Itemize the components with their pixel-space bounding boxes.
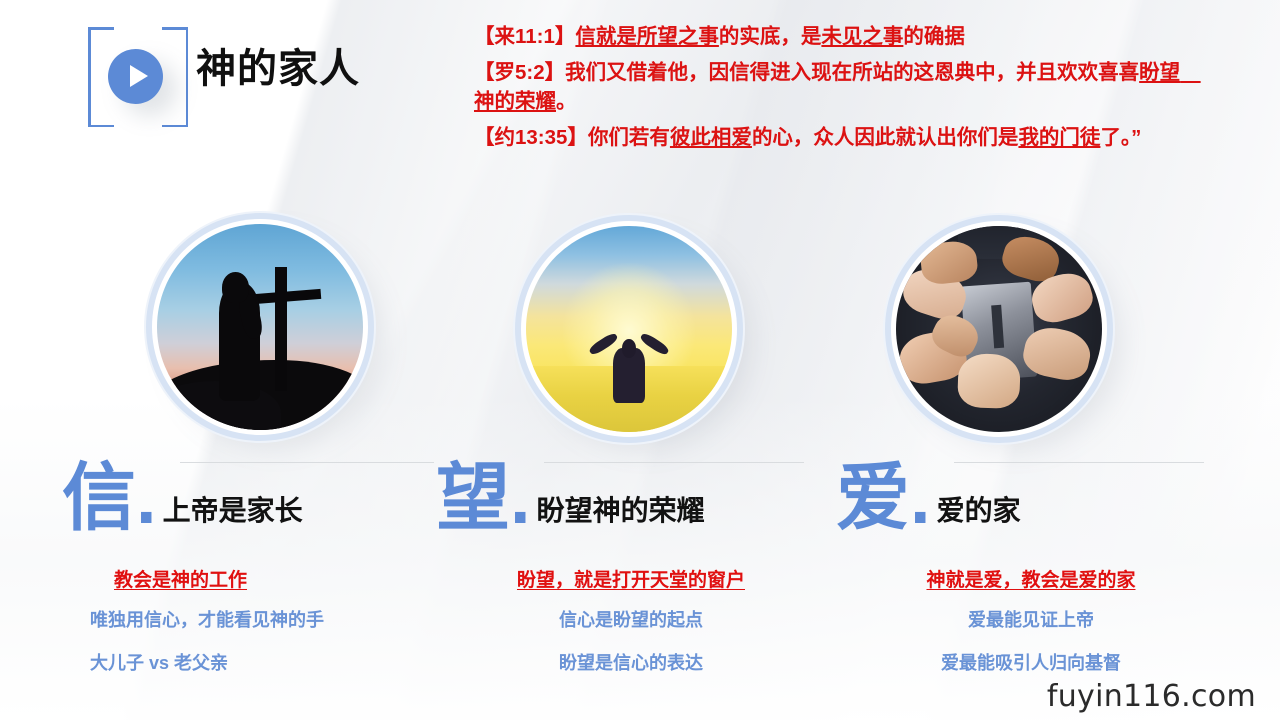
scripture-reference: 【罗5:2】 (474, 61, 565, 84)
column-subhead: 上帝是家长 (157, 497, 303, 532)
person-arms-raised-in-golden-field-photo (526, 226, 732, 432)
column-body-line: 大儿子 vs 老父亲 (90, 654, 452, 672)
page-title: 神的家人 (196, 49, 360, 89)
column-big-char: 信 (62, 464, 136, 532)
column-body-lines: 唯独用信心，才能看见神的手 大儿子 vs 老父亲 (62, 611, 452, 697)
column-dot: . (910, 464, 931, 532)
praying-silhouette-with-cross-photo (157, 224, 363, 430)
scripture-text: 的确据 (903, 25, 965, 48)
column-body-line: 爱最能见证上帝 (836, 611, 1226, 629)
play-button-in-frame-icon (88, 27, 188, 127)
column-divider (180, 462, 434, 463)
play-triangle-icon (130, 65, 148, 87)
scripture-text: 的实底，是 (719, 25, 822, 48)
scripture-verse: 【罗5:2】我们又借着他，因信得进入现在所站的这恩典中，并且欢欢喜喜盼望 神的荣… (474, 58, 1214, 116)
scripture-emphasis: 未见之事 (821, 25, 903, 48)
column-dot: . (510, 464, 531, 532)
scripture-text: 的心，众人因此就认出你们是 (752, 126, 1019, 149)
column-big-char: 望 (436, 464, 510, 532)
column-big-char: 爱 (836, 464, 910, 532)
site-watermark: fuyin116.com (1047, 679, 1256, 714)
column-body-line: 盼望是信心的表达 (436, 654, 826, 672)
scripture-emphasis: 我的门徒 (1018, 126, 1100, 149)
column-divider (954, 462, 1204, 463)
scripture-text: 我们又借着他，因信得进入现在所站的这恩典中，并且欢欢喜喜 (565, 61, 1139, 84)
column-red-line: 教会是神的工作 (62, 565, 452, 592)
hands-clasped-in-prayer-circle-photo (896, 226, 1102, 432)
scripture-emphasis: 信就是所望之事 (575, 25, 719, 48)
scripture-text: 。 (556, 90, 577, 113)
column-dot: . (136, 464, 157, 532)
column-heading: 信 . 上帝是家长 (62, 464, 303, 532)
scripture-emphasis: 彼此相爱 (670, 126, 752, 149)
slide-canvas: 神的家人 【来11:1】信就是所望之事的实底，是未见之事的确据【罗5:2】我们又… (0, 0, 1280, 720)
column-body-lines: 信心是盼望的起点 盼望是信心的表达 (436, 611, 826, 697)
column-body-line: 唯独用信心，才能看见神的手 (90, 611, 452, 629)
column-red-line: 盼望，就是打开天堂的窗户 (436, 565, 826, 592)
column-subhead: 盼望神的荣耀 (531, 497, 705, 532)
column-body-line: 爱最能吸引人归向基督 (836, 654, 1226, 672)
column-heading: 望 . 盼望神的荣耀 (436, 464, 705, 532)
column-subhead: 爱的家 (931, 497, 1021, 532)
column-heading: 爱 . 爱的家 (836, 464, 1021, 532)
column-divider (544, 462, 804, 463)
scripture-reference: 【约13:35】 (474, 126, 588, 149)
column-body-line: 信心是盼望的起点 (436, 611, 826, 629)
logo-circle (108, 49, 163, 104)
scripture-reference: 【来11:1】 (474, 25, 575, 48)
scripture-verse: 【来11:1】信就是所望之事的实底，是未见之事的确据 (474, 22, 1214, 51)
column-red-line: 神就是爱，教会是爱的家 (836, 565, 1226, 592)
scripture-text: 你们若有 (588, 126, 670, 149)
scripture-verse: 【约13:35】你们若有彼此相爱的心，众人因此就认出你们是我的门徒了。” (474, 123, 1214, 152)
scripture-text: 了。” (1100, 126, 1141, 149)
scripture-block: 【来11:1】信就是所望之事的实底，是未见之事的确据【罗5:2】我们又借着他，因… (474, 22, 1214, 152)
